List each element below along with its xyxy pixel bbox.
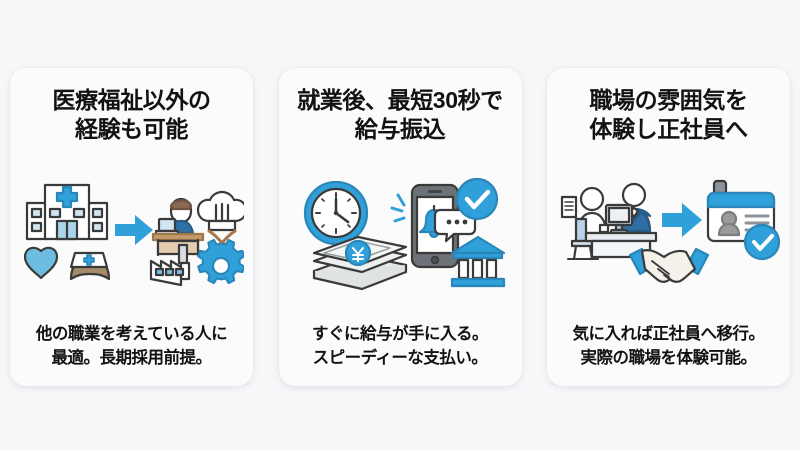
card-title: 職場の雰囲気を 体験し正社員へ (589, 86, 747, 145)
card-caption: 他の職業を考えている人に 最適。長期採用前提。 (36, 323, 227, 370)
gear-icon (198, 240, 244, 283)
arrow-right-icon (115, 215, 153, 245)
clock-icon (305, 182, 367, 244)
check-circle-icon (745, 225, 779, 259)
heart-icon (25, 248, 57, 278)
card-title: 医療福祉以外の 経験も可能 (52, 86, 210, 145)
benefit-card-other-industry-experience[interactable]: 医療福祉以外の 経験も可能 (10, 68, 253, 386)
card-illustration-workplace (555, 147, 782, 323)
check-circle-icon (457, 179, 497, 219)
benefit-card-workplace-to-fulltime[interactable]: 職場の雰囲気を 体験し正社員へ (547, 68, 790, 386)
card-illustration-salary (287, 147, 514, 323)
card-illustration-other-industry (18, 147, 245, 323)
cards-stage: 医療福祉以外の 経験も可能 (0, 0, 800, 450)
handshake-icon (630, 249, 708, 282)
card-caption: 気に入れば正社員へ移行。 実際の職場を体験可能。 (573, 323, 765, 370)
card-caption: すぐに給与が手に入る。 スピーディーな支払い。 (312, 323, 488, 370)
speed-lines-icon (392, 195, 404, 221)
interview-desk-icon (562, 184, 656, 259)
cash-stack-yen-icon (314, 237, 406, 289)
hospital-building-icon (27, 185, 107, 239)
benefit-card-fast-salary-transfer[interactable]: 就業後、最短30秒で 給与振込 (279, 68, 522, 386)
chef-hat-icon (198, 192, 244, 247)
arrow-right-icon (662, 203, 702, 237)
nurse-cap-icon (71, 253, 109, 279)
card-title: 就業後、最短30秒で 給与振込 (297, 86, 503, 145)
bank-building-icon (452, 237, 504, 286)
